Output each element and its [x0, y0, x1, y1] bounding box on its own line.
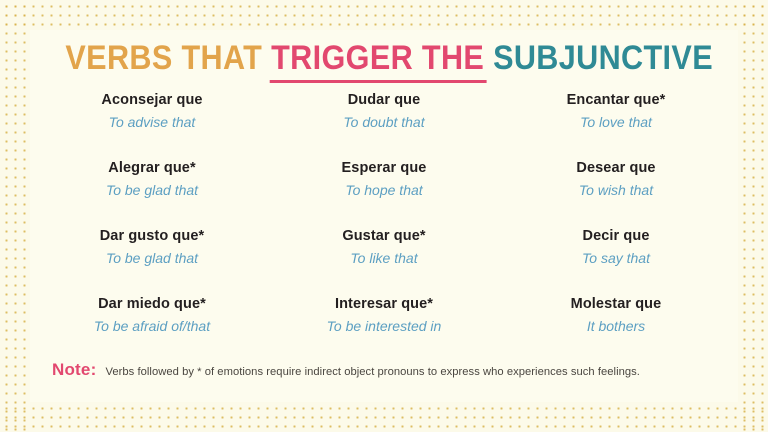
verb-spanish: Decir que — [500, 226, 732, 246]
verb-translation: To advise that — [36, 112, 268, 132]
verb-cell: Aconsejar que To advise that — [36, 88, 268, 156]
verb-spanish: Alegrar que* — [36, 158, 268, 178]
verb-translation: To wish that — [500, 180, 732, 200]
verb-translation: To say that — [500, 248, 732, 268]
verb-spanish: Desear que — [500, 158, 732, 178]
verb-translation: It bothers — [500, 316, 732, 336]
verb-spanish: Dar gusto que* — [36, 226, 268, 246]
title-segment-teal: SUBJUNCTIVE — [493, 39, 713, 77]
verb-cell: Decir que To say that — [500, 224, 732, 292]
footnote: Note: Verbs followed by * of emotions re… — [52, 360, 722, 380]
dot-pattern-top — [0, 0, 768, 30]
footnote-label: Note: — [52, 360, 96, 380]
verb-cell: Dar miedo que* To be afraid of/that — [36, 292, 268, 360]
verb-spanish: Esperar que — [268, 158, 500, 178]
dot-pattern-right — [738, 0, 768, 432]
verb-spanish: Gustar que* — [268, 226, 500, 246]
verb-cell: Alegrar que* To be glad that — [36, 156, 268, 224]
verb-spanish: Dudar que — [268, 90, 500, 110]
title-underline — [269, 80, 487, 83]
verb-translation: To be afraid of/that — [36, 316, 268, 336]
verb-spanish: Aconsejar que — [36, 90, 268, 110]
verb-translation: To hope that — [268, 180, 500, 200]
verb-translation: To doubt that — [268, 112, 500, 132]
page-title: VERBS THAT TRIGGER THE SUBJUNCTIVE — [65, 38, 702, 78]
dot-pattern-left — [0, 0, 30, 432]
verb-cell: Dudar que To doubt that — [268, 88, 500, 156]
verb-cell: Interesar que* To be interested in — [268, 292, 500, 360]
verb-spanish: Encantar que* — [500, 90, 732, 110]
verb-spanish: Molestar que — [500, 294, 732, 314]
verb-cell: Gustar que* To like that — [268, 224, 500, 292]
infographic-root: VERBS THAT TRIGGER THE SUBJUNCTIVE Acons… — [0, 0, 768, 432]
dot-pattern-bottom — [0, 402, 768, 432]
verb-cell: Encantar que* To love that — [500, 88, 732, 156]
content-card: VERBS THAT TRIGGER THE SUBJUNCTIVE Acons… — [30, 30, 738, 402]
verb-translation: To love that — [500, 112, 732, 132]
verb-spanish: Dar miedo que* — [36, 294, 268, 314]
verb-translation: To like that — [268, 248, 500, 268]
footnote-text: Verbs followed by * of emotions require … — [105, 365, 640, 380]
verb-cell: Esperar que To hope that — [268, 156, 500, 224]
title-segment-amber: VERBS THAT — [65, 39, 262, 77]
verb-translation: To be glad that — [36, 248, 268, 268]
verb-cell: Molestar que It bothers — [500, 292, 732, 360]
verb-grid: Aconsejar que To advise that Dudar que T… — [36, 88, 732, 360]
verb-spanish: Interesar que* — [268, 294, 500, 314]
verb-translation: To be interested in — [268, 316, 500, 336]
title-pink-text: TRIGGER THE — [271, 39, 484, 77]
title-segment-pink: TRIGGER THE — [271, 39, 484, 77]
verb-cell: Desear que To wish that — [500, 156, 732, 224]
verb-translation: To be glad that — [36, 180, 268, 200]
verb-cell: Dar gusto que* To be glad that — [36, 224, 268, 292]
